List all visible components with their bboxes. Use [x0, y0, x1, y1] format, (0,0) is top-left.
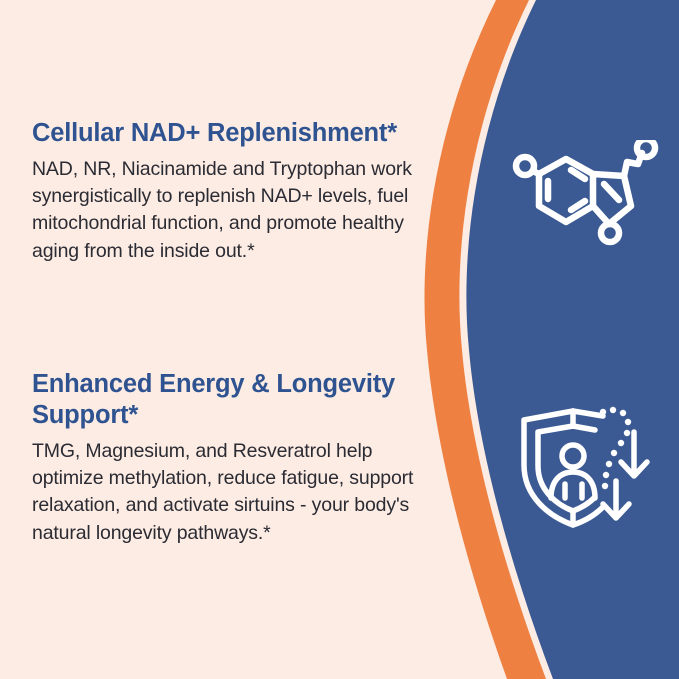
molecule-five-ring	[593, 174, 631, 224]
benefit-2-title: Enhanced Energy & Longevity Support*	[32, 369, 440, 431]
benefit-1-title: Cellular NAD+ Replenishment*	[32, 118, 440, 149]
benefit-item-1: Cellular NAD+ Replenishment* NAD, NR, Ni…	[32, 118, 440, 265]
shield-inner-top-edge	[573, 426, 595, 430]
molecule-icon-glyph	[509, 140, 661, 262]
benefit-1-body: NAD, NR, Niacinamide and Tryptophan work…	[32, 156, 440, 265]
shield-outer-top-edge	[573, 411, 603, 416]
benefit-item-2: Enhanced Energy & Longevity Support* TMG…	[32, 369, 440, 547]
person-head	[562, 445, 584, 467]
molecule-atom-node-topright	[637, 140, 655, 157]
molecule-bond-dash-4	[604, 184, 619, 200]
molecule-bond-left	[533, 171, 539, 174]
molecule-icon	[509, 140, 661, 262]
molecule-atom-node-bottom	[601, 224, 619, 242]
shield-icon-glyph	[515, 402, 661, 534]
dotted-arc	[600, 407, 631, 489]
shield-person-down-arrows-icon	[515, 402, 661, 534]
benefits-text-column: Cellular NAD+ Replenishment* NAD, NR, Ni…	[0, 0, 470, 679]
benefits-graphic: Cellular NAD+ Replenishment* NAD, NR, Ni…	[0, 0, 679, 679]
benefit-2-body: TMG, Magnesium, and Resveratrol help opt…	[32, 438, 440, 547]
person-torso	[551, 472, 595, 498]
